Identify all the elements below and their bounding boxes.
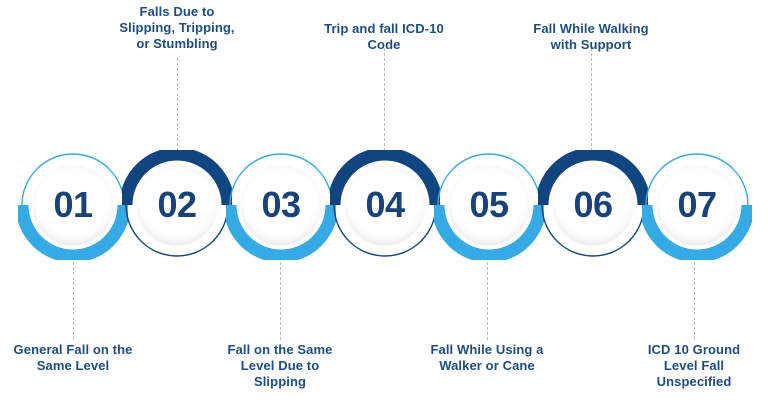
caption-line: Level Due to bbox=[200, 358, 360, 374]
caption-line: Unspecified bbox=[614, 374, 768, 390]
step-number-1: 01 bbox=[18, 150, 128, 260]
connector-line-step-7 bbox=[694, 252, 695, 340]
step-circle-1[interactable]: 01 bbox=[18, 150, 128, 260]
step-circle-2[interactable]: 02 bbox=[122, 150, 232, 260]
connector-line-step-5 bbox=[487, 252, 488, 340]
connector-line-step-4 bbox=[384, 48, 385, 156]
caption-line: Walker or Cane bbox=[407, 358, 567, 374]
caption-line: Slipping, Tripping, bbox=[97, 20, 257, 36]
step-circle-4[interactable]: 04 bbox=[330, 150, 440, 260]
caption-line: Fall While Using a bbox=[407, 342, 567, 358]
caption-step-3: Fall on the Same Level Due to Slipping bbox=[200, 342, 360, 390]
step-circle-3[interactable]: 03 bbox=[226, 150, 336, 260]
step-circle-7[interactable]: 07 bbox=[642, 150, 752, 260]
caption-line: Level Fall bbox=[614, 358, 768, 374]
connector-line-step-6 bbox=[591, 48, 592, 156]
caption-step-2: Falls Due to Slipping, Tripping, or Stum… bbox=[97, 4, 257, 52]
caption-line: Falls Due to bbox=[97, 4, 257, 20]
fall-icd10-infographic: Falls Due to Slipping, Tripping, or Stum… bbox=[0, 0, 768, 403]
step-circle-6[interactable]: 06 bbox=[538, 150, 648, 260]
caption-line: Fall on the Same bbox=[200, 342, 360, 358]
step-number-6: 06 bbox=[538, 150, 648, 260]
caption-line: Code bbox=[304, 37, 464, 53]
step-number-3: 03 bbox=[226, 150, 336, 260]
caption-step-6: Fall While Walking with Support bbox=[511, 21, 671, 53]
caption-line: Fall While Walking bbox=[511, 21, 671, 37]
step-number-2: 02 bbox=[122, 150, 232, 260]
step-number-7: 07 bbox=[642, 150, 752, 260]
caption-step-5: Fall While Using a Walker or Cane bbox=[407, 342, 567, 374]
caption-line: or Stumbling bbox=[97, 36, 257, 52]
caption-line: Same Level bbox=[0, 358, 153, 374]
caption-line: ICD 10 Ground bbox=[614, 342, 768, 358]
caption-line: Slipping bbox=[200, 374, 360, 390]
caption-line: General Fall on the bbox=[0, 342, 153, 358]
caption-step-7: ICD 10 Ground Level Fall Unspecified bbox=[614, 342, 768, 390]
connector-line-step-3 bbox=[280, 252, 281, 340]
connector-line-step-1 bbox=[73, 252, 74, 340]
caption-line: Trip and fall ICD-10 bbox=[304, 21, 464, 37]
step-number-5: 05 bbox=[434, 150, 544, 260]
caption-line: with Support bbox=[511, 37, 671, 53]
caption-step-4: Trip and fall ICD-10 Code bbox=[304, 21, 464, 53]
caption-step-1: General Fall on the Same Level bbox=[0, 342, 153, 374]
connector-line-step-2 bbox=[177, 58, 178, 156]
step-number-4: 04 bbox=[330, 150, 440, 260]
step-circle-5[interactable]: 05 bbox=[434, 150, 544, 260]
